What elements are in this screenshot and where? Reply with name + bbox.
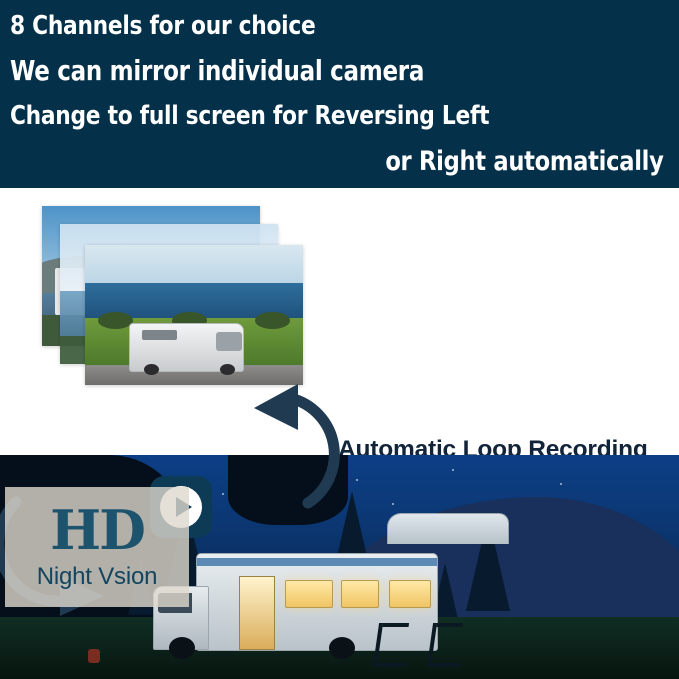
loop-recording-section: Automatic Loop Recording The system come… (0, 188, 679, 455)
hd-badge-title: HD (50, 501, 144, 559)
hd-badge-subtitle: Night Vsion (37, 563, 158, 591)
hd-night-vision-badge: HD Night Vsion (5, 487, 189, 607)
motorhome-door-light (239, 576, 275, 650)
camp-chair (427, 623, 467, 667)
loop-arrow-top-icon (248, 378, 373, 513)
camp-chair (373, 623, 413, 667)
header-line-1: 8 Channels for our choice (10, 4, 625, 49)
header-line-2: We can mirror individual camera (10, 49, 625, 94)
header-banner: 8 Channels for our choice We can mirror … (0, 0, 679, 188)
product-infographic: 8 Channels for our choice We can mirror … (0, 0, 679, 679)
header-line-3: Change to full screen for Reversing Left (10, 94, 625, 139)
lantern (88, 649, 100, 663)
header-line-4: or Right automatically (56, 139, 671, 184)
photo-thumbnail-front[interactable] (85, 245, 303, 385)
